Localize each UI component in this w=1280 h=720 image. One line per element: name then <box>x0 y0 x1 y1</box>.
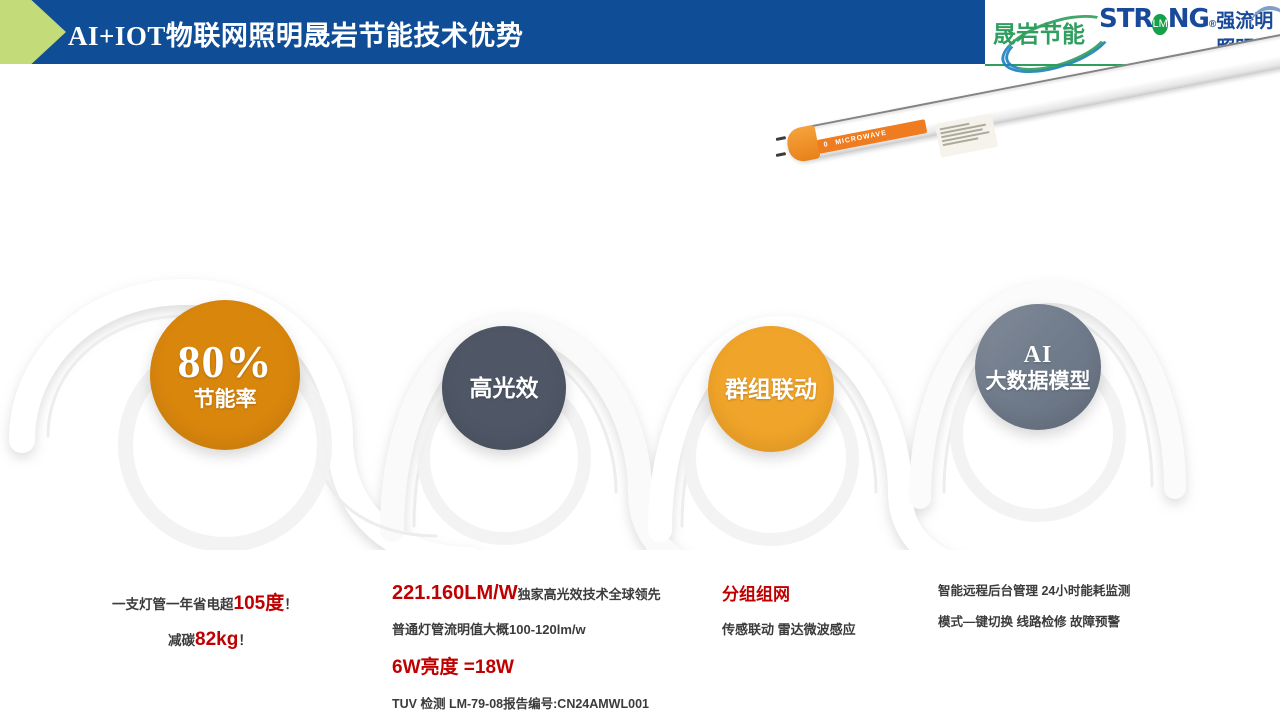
caption1-line2: 减碳82kg！ <box>168 629 298 651</box>
caption1-line2-suffix: ！ <box>238 633 252 648</box>
caption1-line2-value: 82kg <box>195 629 238 650</box>
tube-pin-icon <box>776 136 786 141</box>
tube-spec-lines <box>940 119 993 148</box>
caption4-line2: 模式—键切换 线路检修 故障预警 <box>938 611 1130 630</box>
caption1-line1: 一支灯管一年省电超105度！ <box>112 588 298 615</box>
tube-end-cap <box>785 125 821 164</box>
logo-brand-post: NG <box>1168 4 1209 34</box>
node4-value: AI <box>1024 341 1053 369</box>
caption1-line1-suffix: ！ <box>284 597 298 612</box>
caption2-lumen-value: 221.160LM/W <box>392 582 518 604</box>
logo-chinese-name: 晟岩节能 <box>993 15 1085 49</box>
product-photo-led-tube: 0 MICROWAVE <box>770 78 1280 208</box>
caption1-line2-prefix: 减碳 <box>168 633 195 648</box>
caption1-line1-prefix: 一支灯管一年省电超 <box>112 597 234 612</box>
caption3-line1: 分组组网 <box>722 580 856 605</box>
chevron-arrow-icon <box>0 0 66 64</box>
caption4-line1: 智能远程后台管理 24小时能耗监测 <box>938 580 1130 599</box>
caption2-line2: 普通灯管流明值大概100-120lm/w <box>392 619 661 638</box>
node3-label: 群组联动 <box>725 376 817 402</box>
node1-label: 节能率 <box>194 387 257 413</box>
node-ai-big-data-model[interactable]: AI 大数据模型 <box>975 304 1101 430</box>
page-title: AI+IOT物联网照明晟岩节能技术优势 <box>68 14 523 53</box>
caption2-lumen-note: 独家高光效技术全球领先 <box>518 587 661 602</box>
caption-column-ai-model: 智能远程后台管理 24小时能耗监测 模式—键切换 线路检修 故障预警 <box>938 580 1130 644</box>
tube-band-icon: 0 <box>823 141 829 149</box>
node-energy-saving-rate[interactable]: 80% 节能率 <box>150 300 300 450</box>
node4-label: 大数据模型 <box>986 369 1091 394</box>
node2-label: 高光效 <box>470 375 539 401</box>
slide-root: AI+IOT物联网照明晟岩节能技术优势 晟岩节能 STR LM NG ® 强流明… <box>0 0 1280 720</box>
caption3-line2: 传感联动 雷达微波感应 <box>722 619 856 638</box>
caption-column-energy-saving: 一支灯管一年省电超105度！ 减碳82kg！ <box>112 588 298 665</box>
caption2-line4-report: TUV 检测 LM-79-08报告编号:CN24AMWL001 <box>392 693 661 712</box>
caption2-wattage-value: 6W亮度 =18W <box>392 657 514 678</box>
caption-column-high-efficacy: 221.160LM/W独家高光效技术全球领先 普通灯管流明值大概100-120l… <box>392 582 661 720</box>
tube-pin-icon <box>776 152 786 157</box>
node-high-efficacy[interactable]: 高光效 <box>442 326 566 450</box>
caption-column-group-linkage: 分组组网 传感联动 雷达微波感应 <box>722 580 856 652</box>
node-group-linkage[interactable]: 群组联动 <box>708 326 834 452</box>
logo-lm-badge-icon: LM <box>1152 14 1167 35</box>
caption2-line3: 6W亮度 =18W <box>392 652 661 679</box>
registered-mark: ® <box>1209 19 1216 30</box>
caption2-line1: 221.160LM/W独家高光效技术全球领先 <box>392 582 661 605</box>
slide-header: AI+IOT物联网照明晟岩节能技术优势 晟岩节能 STR LM NG ® 强流明… <box>0 0 1280 64</box>
caption1-line1-value: 105度 <box>234 593 285 614</box>
node1-value: 80% <box>178 338 273 386</box>
